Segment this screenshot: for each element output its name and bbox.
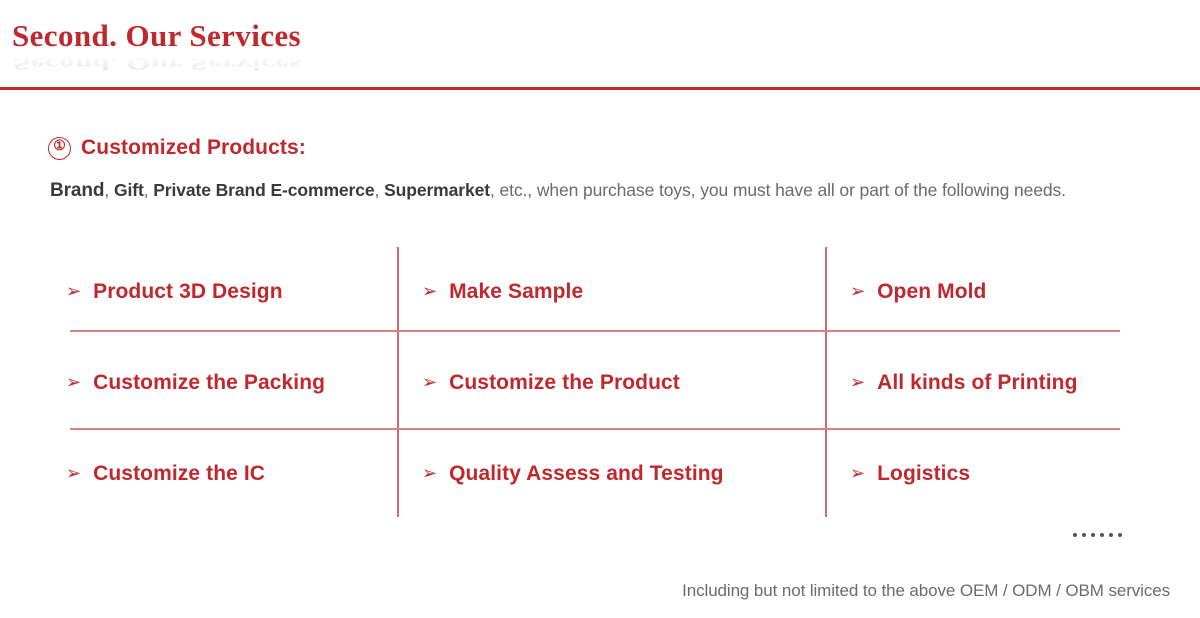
- grid-vertical-divider-1: [397, 247, 399, 517]
- service-item-label: Customize the Packing: [93, 371, 325, 395]
- service-item-customize-the-ic[interactable]: ➢ Customize the IC: [66, 462, 265, 486]
- grid-vertical-divider-2: [825, 247, 827, 517]
- service-item-open-mold[interactable]: ➢ Open Mold: [850, 280, 986, 304]
- arrow-bullet-icon: ➢: [66, 373, 81, 391]
- service-item-customize-the-product[interactable]: ➢ Customize the Product: [422, 371, 680, 395]
- intro-keyword-private-brand: Private Brand: [153, 180, 266, 200]
- arrow-bullet-icon: ➢: [850, 464, 865, 482]
- service-item-all-kinds-of-printing[interactable]: ➢ All kinds of Printing: [850, 371, 1078, 395]
- service-item-label: Make Sample: [449, 280, 583, 304]
- service-item-label: Quality Assess and Testing: [449, 462, 724, 486]
- services-grid: ➢ Product 3D Design ➢ Make Sample ➢ Open…: [0, 240, 1200, 525]
- circled-number-icon: ①: [48, 137, 71, 160]
- intro-sep-4: ,: [375, 180, 385, 200]
- service-item-label: Open Mold: [877, 280, 986, 304]
- service-item-label: Logistics: [877, 462, 970, 486]
- arrow-bullet-icon: ➢: [422, 373, 437, 391]
- service-item-quality-assess-and-testing[interactable]: ➢ Quality Assess and Testing: [422, 462, 724, 486]
- service-item-logistics[interactable]: ➢ Logistics: [850, 462, 970, 486]
- footer-note: Including but not limited to the above O…: [682, 581, 1170, 601]
- intro-tail-text: , etc., when purchase toys, you must hav…: [490, 180, 1066, 200]
- arrow-bullet-icon: ➢: [422, 282, 437, 300]
- ellipsis-dot: [1091, 533, 1095, 537]
- ellipsis-dot: [1082, 533, 1086, 537]
- page-title-reflection: Second. Our Services: [13, 54, 302, 74]
- ellipsis-dot: [1118, 533, 1122, 537]
- service-item-label: All kinds of Printing: [877, 371, 1077, 395]
- grid-horizontal-divider-2: [70, 428, 1120, 430]
- arrow-bullet-icon: ➢: [66, 464, 81, 482]
- intro-keyword-ecommerce: E-commerce: [270, 180, 374, 200]
- intro-paragraph: Brand, Gift, Private Brand E-commerce, S…: [50, 180, 1170, 202]
- intro-keyword-gift: Gift: [114, 180, 144, 200]
- service-item-label: Customize the IC: [93, 462, 265, 486]
- arrow-bullet-icon: ➢: [850, 282, 865, 300]
- ellipsis-dot: [1100, 533, 1104, 537]
- section-heading-label: Customized Products:: [81, 136, 306, 160]
- arrow-bullet-icon: ➢: [422, 464, 437, 482]
- intro-sep-1: ,: [104, 180, 114, 200]
- grid-horizontal-divider-1: [70, 330, 1120, 332]
- slide-header: Second. Our Services Second. Our Service…: [0, 0, 1200, 92]
- service-item-customize-the-packing[interactable]: ➢ Customize the Packing: [66, 371, 325, 395]
- intro-keyword-supermarket: Supermarket: [384, 180, 490, 200]
- service-item-product-3d-design[interactable]: ➢ Product 3D Design: [66, 280, 283, 304]
- service-item-label: Product 3D Design: [93, 280, 283, 304]
- ellipsis-dots-icon: [1073, 533, 1122, 537]
- arrow-bullet-icon: ➢: [66, 282, 81, 300]
- service-item-make-sample[interactable]: ➢ Make Sample: [422, 280, 583, 304]
- arrow-bullet-icon: ➢: [850, 373, 865, 391]
- intro-keyword-brand: Brand: [50, 180, 104, 201]
- page-title: Second. Our Services: [12, 18, 301, 54]
- header-divider-rule: [0, 87, 1200, 90]
- ellipsis-dot: [1073, 533, 1077, 537]
- service-item-label: Customize the Product: [449, 371, 680, 395]
- intro-sep-2: ,: [144, 180, 154, 200]
- ellipsis-dot: [1109, 533, 1113, 537]
- section-heading: ① Customized Products:: [48, 136, 306, 160]
